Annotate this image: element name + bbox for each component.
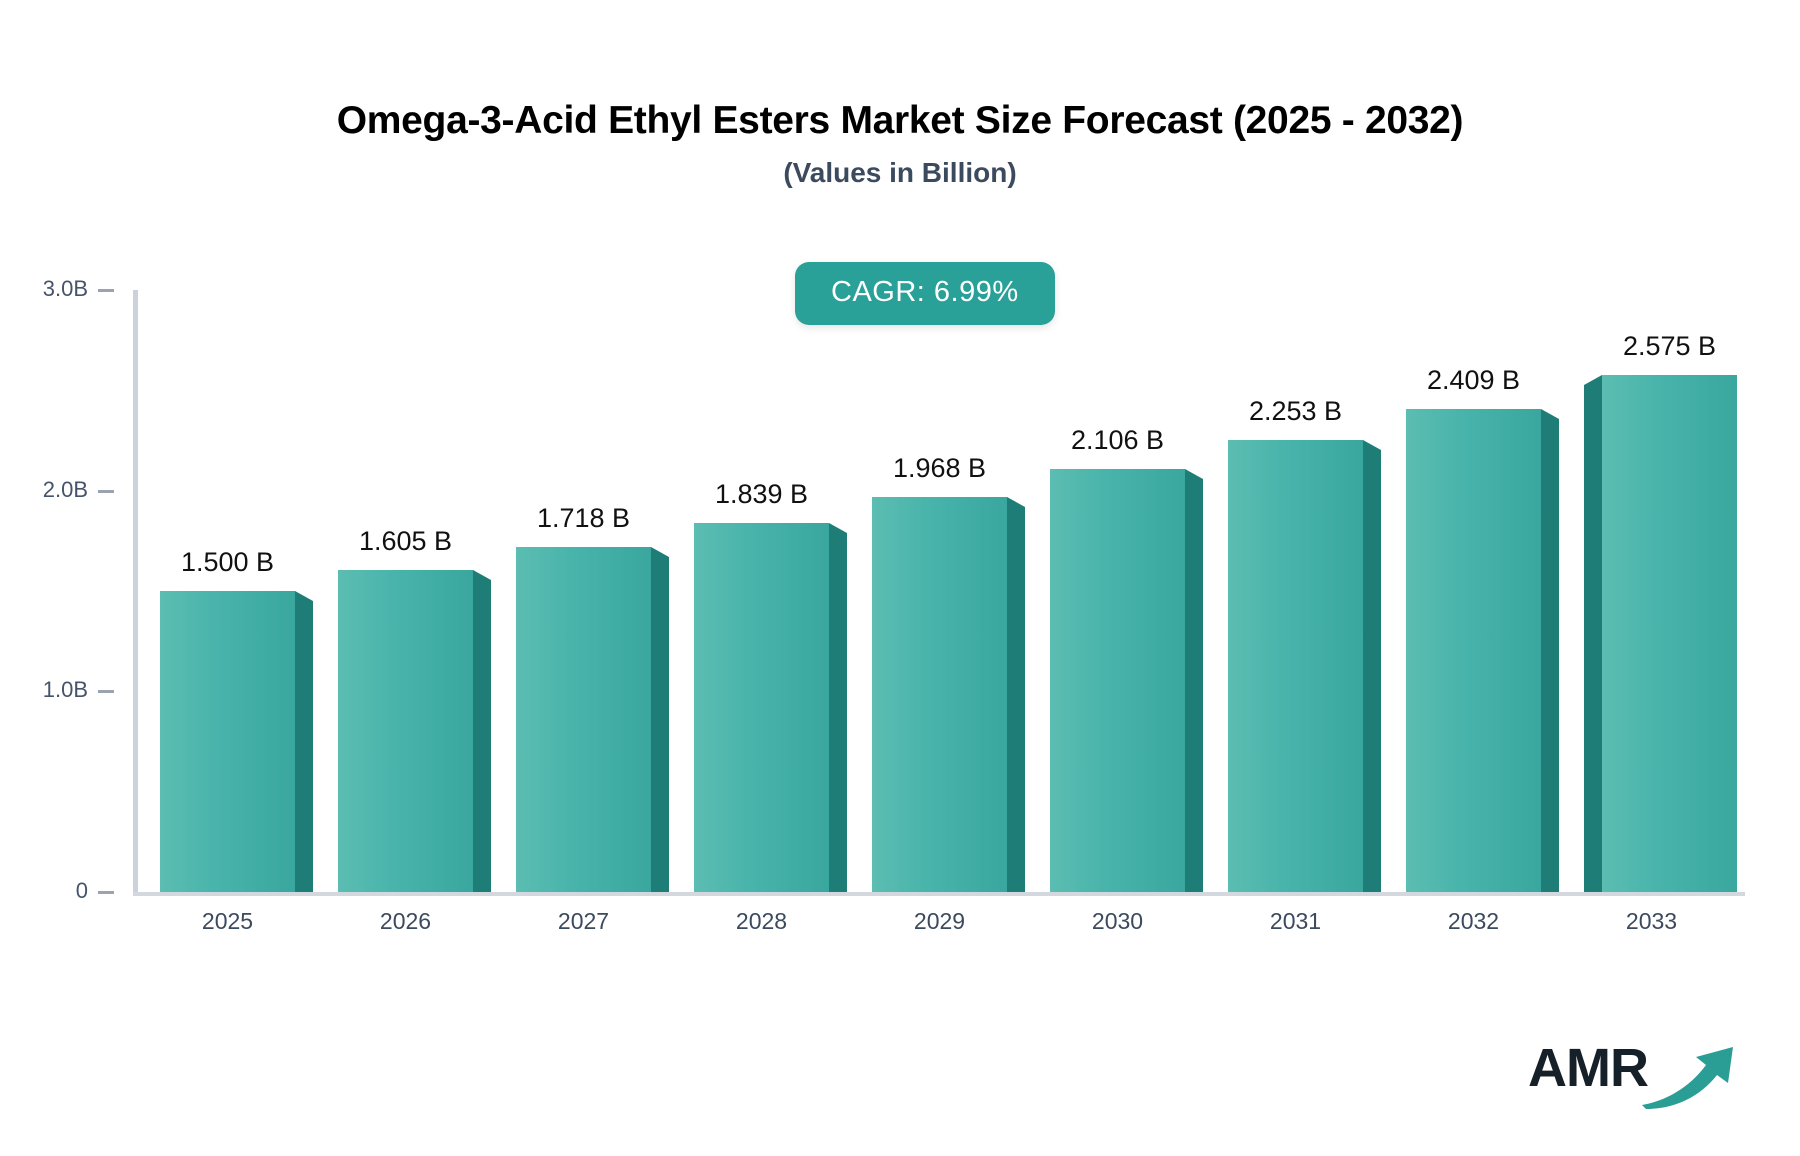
bar-value-label: 2.575 B <box>1562 331 1777 362</box>
x-tick-label: 2033 <box>1554 908 1749 935</box>
bar-side-face <box>1007 507 1025 892</box>
y-tick-label: 0 <box>0 878 88 904</box>
bar-front-face <box>1228 440 1363 892</box>
bar-value-label: 1.968 B <box>832 453 1047 484</box>
bar-top-bevel <box>295 591 313 601</box>
x-tick-label: 2026 <box>308 908 503 935</box>
y-tick-mark <box>98 891 114 894</box>
x-tick-label: 2032 <box>1376 908 1571 935</box>
bar-front-face <box>160 591 295 892</box>
y-axis-line <box>133 290 138 895</box>
bar-top-bevel <box>1363 440 1381 450</box>
bar-2028 <box>694 523 847 892</box>
bar-top-bevel <box>1541 409 1559 419</box>
bar-front-face <box>1406 409 1541 892</box>
bar-side-face <box>295 601 313 892</box>
bar-side-face <box>1541 419 1559 892</box>
bar-side-face <box>651 557 669 892</box>
y-tick-label: 1.0B <box>0 677 88 703</box>
x-tick-label: 2025 <box>130 908 325 935</box>
bar-value-label: 2.253 B <box>1188 396 1403 427</box>
bar-2027 <box>516 547 669 892</box>
y-tick-mark <box>98 690 114 693</box>
bar-side-face <box>473 580 491 892</box>
bar-2025 <box>160 591 313 892</box>
bar-side-face <box>1363 450 1381 892</box>
chart-card: Omega-3-Acid Ethyl Esters Market Size Fo… <box>0 0 1800 1156</box>
x-tick-label: 2030 <box>1020 908 1215 935</box>
x-tick-label: 2028 <box>664 908 859 935</box>
amr-logo: AMR <box>1528 1035 1738 1115</box>
bar-top-bevel <box>1185 469 1203 479</box>
x-tick-label: 2027 <box>486 908 681 935</box>
bar-top-bevel <box>473 570 491 580</box>
x-tick-label: 2031 <box>1198 908 1393 935</box>
bar-2031 <box>1228 440 1381 892</box>
bar-value-label: 2.106 B <box>1010 425 1225 456</box>
amr-logo-text: AMR <box>1528 1037 1648 1099</box>
y-tick-label: 2.0B <box>0 477 88 503</box>
bar-value-label: 2.409 B <box>1366 365 1581 396</box>
bar-2032 <box>1406 409 1559 892</box>
bar-front-face <box>1602 375 1737 892</box>
bar-front-face <box>516 547 651 892</box>
growth-arrow-icon <box>1640 1043 1738 1109</box>
bar-top-bevel <box>651 547 669 557</box>
bar-front-face <box>694 523 829 892</box>
bar-2026 <box>338 570 491 892</box>
bar-2033 <box>1584 375 1737 892</box>
bar-top-bevel <box>829 523 847 533</box>
plot-area: 01.0B2.0B3.0B 1.500 B1.605 B1.718 B1.839… <box>0 0 1800 1156</box>
bar-2029 <box>872 497 1025 892</box>
bar-2030 <box>1050 469 1203 892</box>
x-tick-label: 2029 <box>842 908 1037 935</box>
bar-front-face <box>872 497 1007 892</box>
bar-side-face <box>829 533 847 892</box>
y-tick-mark <box>98 289 114 292</box>
y-tick-mark <box>98 490 114 493</box>
y-tick-label: 3.0B <box>0 276 88 302</box>
x-axis-line <box>133 892 1745 896</box>
bar-front-face <box>338 570 473 892</box>
bar-top-bevel <box>1007 497 1025 507</box>
bar-side-face <box>1185 479 1203 892</box>
bar-top-bevel <box>1584 375 1602 385</box>
bar-side-face <box>1584 385 1602 892</box>
bar-front-face <box>1050 469 1185 892</box>
